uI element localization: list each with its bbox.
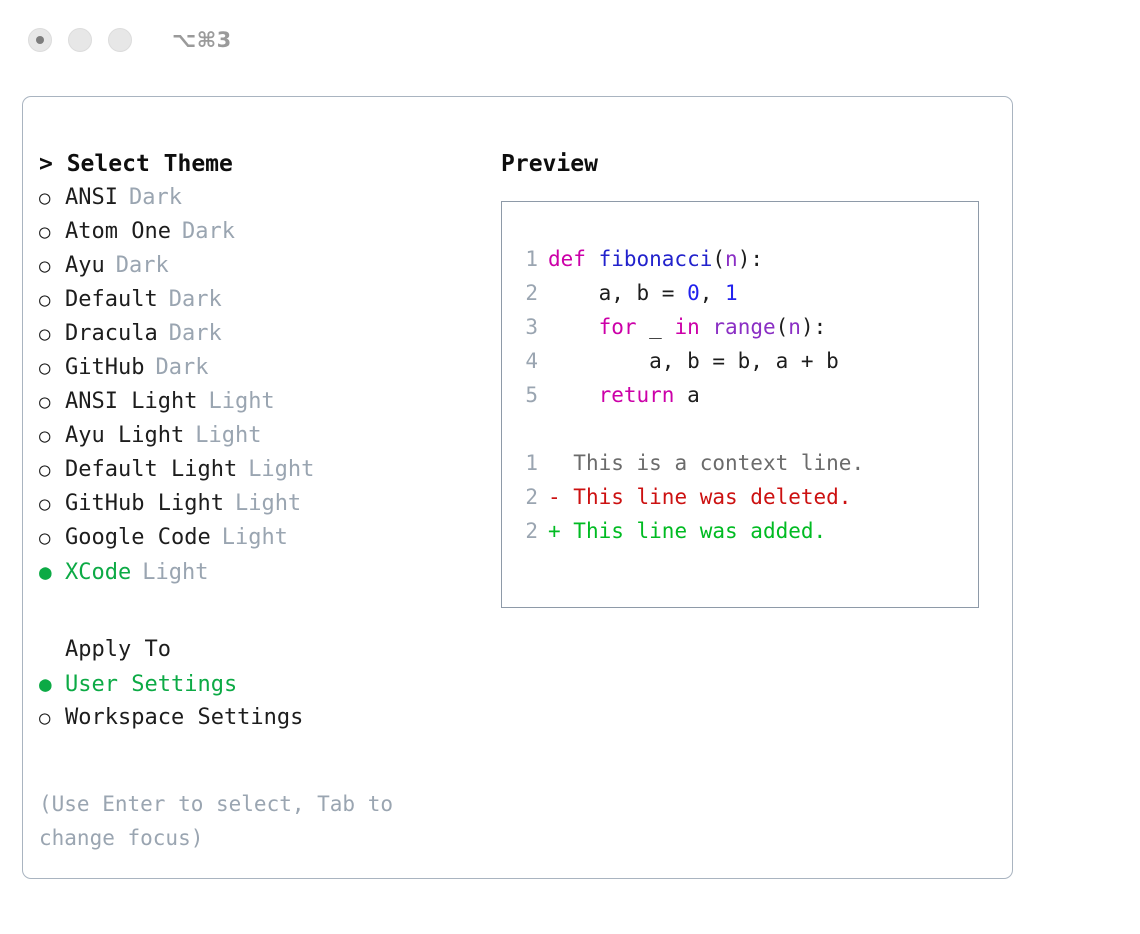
code-token: for [599, 315, 637, 339]
code-token: ): [801, 315, 826, 339]
theme-option-row[interactable]: ○DefaultDark [39, 283, 489, 317]
code-token: _ [637, 315, 675, 339]
apply-to-option-row[interactable]: ○Workspace Settings [39, 701, 489, 735]
theme-option-name: Google Code [65, 521, 211, 555]
select-theme-header: > Select Theme [39, 147, 489, 181]
code-line-number: 5 [502, 378, 548, 412]
code-token: a, b = [548, 281, 687, 305]
theme-option-variant: Light [142, 556, 208, 590]
theme-option-row[interactable]: ○GitHubDark [39, 351, 489, 385]
diff-line-text: This line was deleted. [573, 480, 851, 514]
preview-column: Preview 1def fibonacci(n):2 a, b = 0, 13… [501, 147, 1001, 608]
code-line-number: 3 [502, 310, 548, 344]
header-prompt-caret: > [39, 151, 67, 177]
code-token: def [548, 247, 599, 271]
diff-line: 2+ This line was added. [502, 514, 978, 548]
theme-option-row[interactable]: ○Ayu LightLight [39, 419, 489, 453]
theme-option-row[interactable]: ○Atom OneDark [39, 215, 489, 249]
code-line-text: return a [548, 378, 700, 412]
radio-unselected-icon: ○ [39, 283, 65, 317]
blank-bullet-icon: ○ [39, 633, 65, 667]
theme-option-name: XCode [65, 556, 131, 590]
radio-unselected-icon: ○ [39, 419, 65, 453]
code-token: 1 [725, 281, 738, 305]
diff-line: 1 This is a context line. [502, 446, 978, 480]
code-token: return [599, 383, 675, 407]
radio-unselected-icon: ○ [39, 215, 65, 249]
code-token [548, 315, 599, 339]
code-token: range [712, 315, 775, 339]
theme-selector-column: > Select Theme ○ANSIDark○Atom OneDark○Ay… [39, 147, 489, 855]
select-theme-header-text: Select Theme [67, 151, 233, 177]
apply-to-option-name: User Settings [65, 668, 237, 702]
preview-header: Preview [501, 147, 1001, 181]
theme-option-row[interactable]: ●XCodeLight [39, 555, 489, 589]
radio-selected-icon: ● [39, 555, 65, 589]
diff-sample-block: 1 This is a context line.2- This line wa… [502, 446, 978, 548]
diff-line-number: 2 [502, 514, 548, 548]
code-token: ( [776, 315, 789, 339]
apply-to-option-row[interactable]: ●User Settings [39, 667, 489, 701]
theme-option-row[interactable]: ○Google CodeLight [39, 521, 489, 555]
code-line-text: a, b = 0, 1 [548, 276, 738, 310]
keyboard-shortcut-label: ⌥⌘3 [172, 28, 232, 52]
theme-option-name: Default [65, 283, 158, 317]
code-token: in [674, 315, 699, 339]
keyboard-hint-text: (Use Enter to select, Tab to change focu… [39, 787, 449, 855]
theme-option-name: Default Light [65, 453, 237, 487]
apply-to-group: ○Apply To ●User Settings○Workspace Setti… [39, 633, 489, 735]
code-token: ): [738, 247, 763, 271]
main-panel: > Select Theme ○ANSIDark○Atom OneDark○Ay… [22, 96, 1013, 879]
code-line-text: a, b = b, a + b [548, 344, 839, 378]
theme-option-variant: Light [208, 385, 274, 419]
diff-marker: - [548, 480, 573, 514]
theme-option-name: GitHub [65, 351, 144, 385]
code-line: 5 return a [502, 378, 978, 412]
code-token [700, 315, 713, 339]
theme-option-name: Dracula [65, 317, 158, 351]
theme-option-variant: Dark [182, 215, 235, 249]
theme-option-name: Atom One [65, 215, 171, 249]
code-token: fibonacci [599, 247, 713, 271]
code-line: 4 a, b = b, a + b [502, 344, 978, 378]
radio-unselected-icon: ○ [39, 521, 65, 555]
theme-option-variant: Light [195, 419, 261, 453]
code-token: n [788, 315, 801, 339]
radio-unselected-icon: ○ [39, 249, 65, 283]
radio-unselected-icon: ○ [39, 453, 65, 487]
code-line: 2 a, b = 0, 1 [502, 276, 978, 310]
radio-unselected-icon: ○ [39, 701, 65, 735]
theme-option-variant: Dark [169, 317, 222, 351]
theme-option-variant: Light [222, 521, 288, 555]
theme-option-row[interactable]: ○Default LightLight [39, 453, 489, 487]
theme-option-name: Ayu [65, 249, 105, 283]
traffic-light-button-1[interactable] [28, 28, 52, 52]
code-line-number: 2 [502, 276, 548, 310]
code-token: ( [712, 247, 725, 271]
code-line: 3 for _ in range(n): [502, 310, 978, 344]
code-token [548, 383, 599, 407]
theme-option-variant: Dark [169, 283, 222, 317]
code-line-number: 1 [502, 242, 548, 276]
preview-code-box: 1def fibonacci(n):2 a, b = 0, 13 for _ i… [501, 201, 979, 608]
code-token: a, b = b, a + b [548, 349, 839, 373]
radio-unselected-icon: ○ [39, 351, 65, 385]
code-sample-block: 1def fibonacci(n):2 a, b = 0, 13 for _ i… [502, 242, 978, 412]
code-line-number: 4 [502, 344, 548, 378]
code-diff-separator [502, 412, 978, 446]
code-line-text: for _ in range(n): [548, 310, 826, 344]
code-token: , [700, 281, 725, 305]
code-line: 1def fibonacci(n): [502, 242, 978, 276]
diff-line-number: 2 [502, 480, 548, 514]
theme-option-name: GitHub Light [65, 487, 224, 521]
theme-option-variant: Dark [116, 249, 169, 283]
record-dot-icon [36, 36, 44, 44]
theme-option-variant: Light [248, 453, 314, 487]
diff-marker: + [548, 514, 573, 548]
theme-option-variant: Dark [155, 351, 208, 385]
diff-line-number: 1 [502, 446, 548, 480]
title-bar: ⌥⌘3 [0, 0, 1140, 80]
theme-option-row[interactable]: ○ANSI LightLight [39, 385, 489, 419]
code-line-text: def fibonacci(n): [548, 242, 763, 276]
radio-unselected-icon: ○ [39, 487, 65, 521]
theme-option-name: ANSI [65, 181, 118, 215]
apply-to-option-name: Workspace Settings [65, 701, 303, 735]
diff-marker [548, 446, 573, 480]
radio-unselected-icon: ○ [39, 181, 65, 215]
code-token: a [674, 383, 699, 407]
code-token: 0 [687, 281, 700, 305]
apply-to-label-row: ○Apply To [39, 633, 489, 667]
radio-selected-icon: ● [39, 667, 65, 701]
theme-option-row[interactable]: ○ANSIDark [39, 181, 489, 215]
radio-unselected-icon: ○ [39, 317, 65, 351]
radio-unselected-icon: ○ [39, 385, 65, 419]
diff-line-text: This is a context line. [573, 446, 864, 480]
traffic-light-button-2[interactable] [68, 28, 92, 52]
theme-option-variant: Light [235, 487, 301, 521]
app-window: ⌥⌘3 > Select Theme ○ANSIDark○Atom OneDar… [0, 0, 1140, 934]
diff-line: 2- This line was deleted. [502, 480, 978, 514]
theme-option-variant: Dark [129, 181, 182, 215]
apply-to-label: Apply To [65, 633, 171, 667]
code-token: n [725, 247, 738, 271]
theme-option-name: Ayu Light [65, 419, 184, 453]
apply-to-list: ●User Settings○Workspace Settings [39, 667, 489, 735]
theme-list: ○ANSIDark○Atom OneDark○AyuDark○DefaultDa… [39, 181, 489, 589]
theme-option-row[interactable]: ○DraculaDark [39, 317, 489, 351]
theme-option-row[interactable]: ○GitHub LightLight [39, 487, 489, 521]
traffic-light-button-3[interactable] [108, 28, 132, 52]
theme-option-name: ANSI Light [65, 385, 197, 419]
diff-line-text: This line was added. [573, 514, 826, 548]
theme-option-row[interactable]: ○AyuDark [39, 249, 489, 283]
